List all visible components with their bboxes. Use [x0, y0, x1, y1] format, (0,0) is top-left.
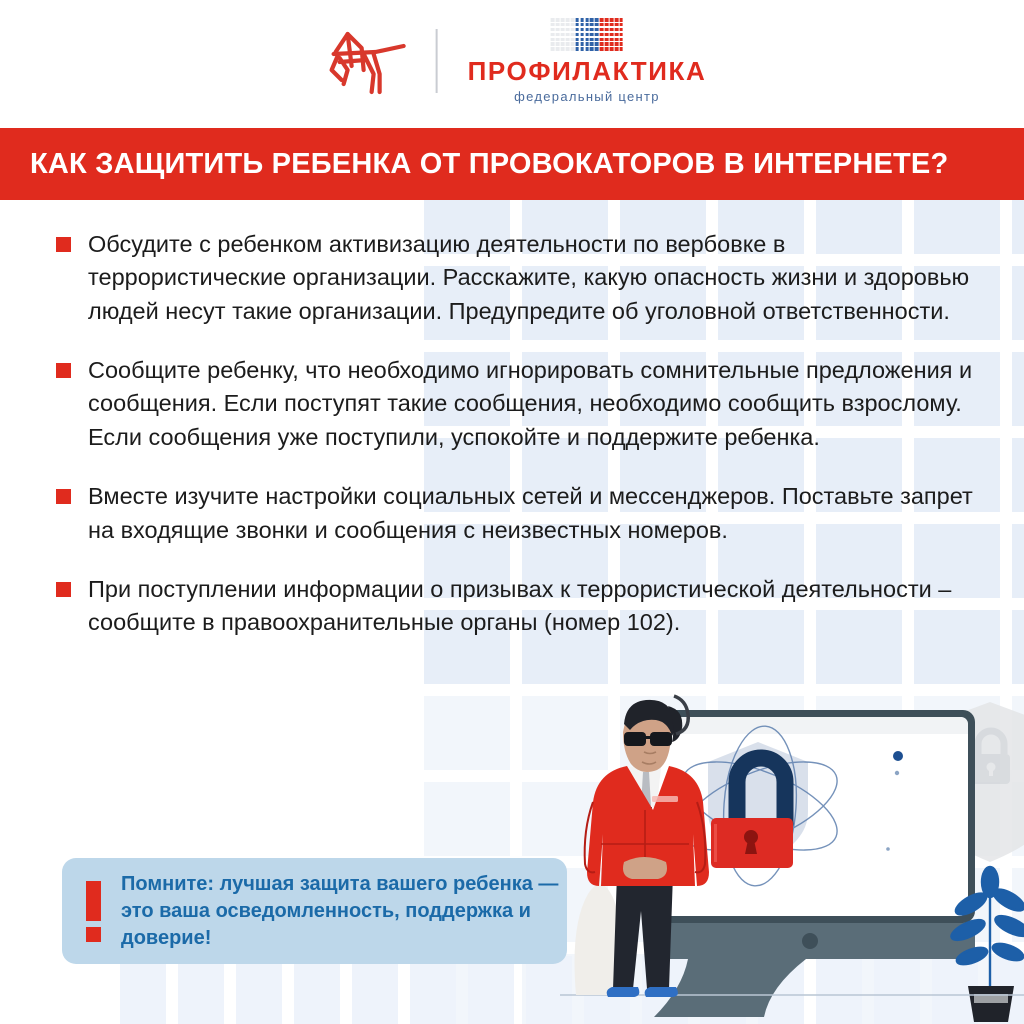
- flag-pixel: [619, 38, 623, 42]
- flag-pixel: [580, 28, 584, 32]
- advice-item: При поступлении информации о призывах к …: [56, 573, 994, 640]
- browser-window-dots: [652, 717, 968, 734]
- flag-pixel: [575, 33, 579, 37]
- flag-pixel: [615, 33, 619, 37]
- flag-pixel: [610, 33, 614, 37]
- flag-pixel: [619, 23, 623, 27]
- flag-pixel: [590, 18, 594, 22]
- flag-pixel: [575, 38, 579, 42]
- flag-pixel: [610, 18, 614, 22]
- flag-pixel: [566, 33, 570, 37]
- flag-pixel: [580, 33, 584, 37]
- flag-pixel: [595, 18, 599, 22]
- flag-pixel: [585, 23, 589, 27]
- flag-pixel: [561, 28, 565, 32]
- flag-pixel: [590, 38, 594, 42]
- flag-pixel: [615, 42, 619, 46]
- flag-pixel: [590, 28, 594, 32]
- flag-pixel: [575, 23, 579, 27]
- flag-pixel: [551, 23, 555, 27]
- flag-pixel: [595, 38, 599, 42]
- flag-pixel: [585, 47, 589, 51]
- flag-pixel: [556, 38, 560, 42]
- red-square-bullet-icon: [56, 237, 71, 252]
- flag-pixel: [580, 38, 584, 42]
- flag-pixel: [615, 28, 619, 32]
- title-banner: КАК ЗАЩИТИТЬ РЕБЕНКА ОТ ПРОВОКАТОРОВ В И…: [0, 128, 1024, 200]
- orbit-dot: [893, 751, 903, 761]
- flag-pixel: [561, 33, 565, 37]
- flag-pixel: [590, 33, 594, 37]
- flag-pixel: [556, 23, 560, 27]
- desktop-monitor: [645, 710, 975, 1017]
- flag-pixel: [610, 47, 614, 51]
- page-title: КАК ЗАЩИТИТЬ РЕБЕНКА ОТ ПРОВОКАТОРОВ В И…: [0, 148, 948, 181]
- flag-pixel: [580, 47, 584, 51]
- flag-pixel: [605, 33, 609, 37]
- flag-pixel: [571, 47, 575, 51]
- advice-item: Вместе изучите настройки социальных сете…: [56, 480, 994, 547]
- orbit-dot: [895, 771, 899, 775]
- flag-pixel: [605, 28, 609, 32]
- flag-pixel: [600, 42, 604, 46]
- flag-pixel: [571, 18, 575, 22]
- flag-pixel: [615, 47, 619, 51]
- flag-pixel: [571, 33, 575, 37]
- flag-pixel: [566, 38, 570, 42]
- flag-pixel: [600, 18, 604, 22]
- flag-pixel: [610, 38, 614, 42]
- flag-pixel: [585, 38, 589, 42]
- red-square-bullet-icon: [56, 582, 71, 597]
- callout-box: Помните: лучшая защита вашего ребенка — …: [62, 858, 567, 964]
- flag-pixel: [556, 18, 560, 22]
- flag-pixel: [605, 47, 609, 51]
- advice-item-text: При поступлении информации о призывах к …: [88, 573, 988, 640]
- flag-pixel: [561, 23, 565, 27]
- flag-pixel: [585, 28, 589, 32]
- flag-pixel: [600, 28, 604, 32]
- flag-pixel: [595, 23, 599, 27]
- flag-pixel: [590, 42, 594, 46]
- flag-pixel: [619, 28, 623, 32]
- flag-pixel: [571, 23, 575, 27]
- advice-item: Обсудите с ребенком активизацию деятельн…: [56, 228, 994, 328]
- flag-pixel: [556, 47, 560, 51]
- flag-pixel: [585, 42, 589, 46]
- flag-pixel: [566, 18, 570, 22]
- flag-pixel: [551, 33, 555, 37]
- flag-pixel: [561, 18, 565, 22]
- flag-pixel: [585, 33, 589, 37]
- flag-pixel: [600, 47, 604, 51]
- callout-text: Помните: лучшая защита вашего ребенка — …: [121, 871, 567, 952]
- flag-pixel: [619, 33, 623, 37]
- flag-pixel: [605, 42, 609, 46]
- flag-pixel: [566, 28, 570, 32]
- advice-item: Сообщите ребенку, что необходимо игнорир…: [56, 354, 994, 454]
- flag-pixel: [590, 23, 594, 27]
- flag-pixel: [551, 38, 555, 42]
- logo-row: ПРОФИЛАКТИКА федеральный центр: [318, 18, 707, 104]
- flag-pixel: [566, 23, 570, 27]
- flag-pixel: [610, 42, 614, 46]
- flag-pixel: [561, 42, 565, 46]
- orbit-dot: [886, 847, 890, 851]
- flag-pixel: [600, 23, 604, 27]
- brand-block: ПРОФИЛАКТИКА федеральный центр: [464, 18, 707, 104]
- flag-pixel: [571, 28, 575, 32]
- flag-pixel: [605, 38, 609, 42]
- flag-pixel: [571, 42, 575, 46]
- background-object: [575, 884, 620, 995]
- flag-pixel: [571, 38, 575, 42]
- flag-pixel: [619, 47, 623, 51]
- flag-pixel: [619, 18, 623, 22]
- flag-pixel: [610, 23, 614, 27]
- flag-pixel: [610, 28, 614, 32]
- flag-pixel: [580, 18, 584, 22]
- flag-pixel: [556, 33, 560, 37]
- advice-item-text: Обсудите с ребенком активизацию деятельн…: [88, 228, 988, 328]
- infographic-poster: ПРОФИЛАКТИКА федеральный центр КАК ЗАЩИТ…: [0, 0, 1024, 1024]
- advice-list: Обсудите с ребенком активизацию деятельн…: [0, 200, 1024, 666]
- flag-pixel: [575, 42, 579, 46]
- advice-item-text: Вместе изучите настройки социальных сете…: [88, 480, 988, 547]
- flag-pixel: [580, 23, 584, 27]
- flag-pixel: [615, 23, 619, 27]
- flag-pixel: [551, 18, 555, 22]
- flag-pixel: [595, 47, 599, 51]
- pixel-flag-grid-icon: [551, 18, 623, 51]
- flag-pixel: [575, 18, 579, 22]
- exclamation-bar: [86, 881, 101, 921]
- red-square-bullet-icon: [56, 489, 71, 504]
- flag-pixel: [595, 42, 599, 46]
- brand-name: ПРОФИЛАКТИКА: [468, 58, 707, 84]
- flag-pixel: [600, 33, 604, 37]
- exclamation-mark-icon: [86, 881, 101, 942]
- flag-pixel: [556, 42, 560, 46]
- flag-pixel: [600, 38, 604, 42]
- flag-pixel: [575, 47, 579, 51]
- flag-pixel: [551, 42, 555, 46]
- chair-line-art-icon: [318, 22, 410, 100]
- advice-item-text: Сообщите ребенку, что необходимо игнорир…: [88, 354, 988, 454]
- flag-pixel: [595, 28, 599, 32]
- flag-pixel: [561, 38, 565, 42]
- flag-pixel: [580, 42, 584, 46]
- logo-divider: [436, 29, 438, 93]
- flag-pixel: [556, 28, 560, 32]
- flag-pixel: [605, 23, 609, 27]
- flag-pixel: [605, 18, 609, 22]
- flag-pixel: [551, 28, 555, 32]
- poster-header: ПРОФИЛАКТИКА федеральный центр: [0, 0, 1024, 128]
- flag-pixel: [585, 18, 589, 22]
- flag-pixel: [615, 38, 619, 42]
- flag-pixel: [566, 42, 570, 46]
- brand-subtitle: федеральный центр: [514, 89, 660, 104]
- flag-pixel: [566, 47, 570, 51]
- flag-pixel: [575, 28, 579, 32]
- exclamation-dot: [86, 927, 101, 942]
- flag-pixel: [615, 18, 619, 22]
- flag-pixel: [561, 47, 565, 51]
- flag-pixel: [551, 47, 555, 51]
- red-square-bullet-icon: [56, 363, 71, 378]
- flag-pixel: [590, 47, 594, 51]
- flag-pixel: [619, 42, 623, 46]
- flag-pixel: [595, 33, 599, 37]
